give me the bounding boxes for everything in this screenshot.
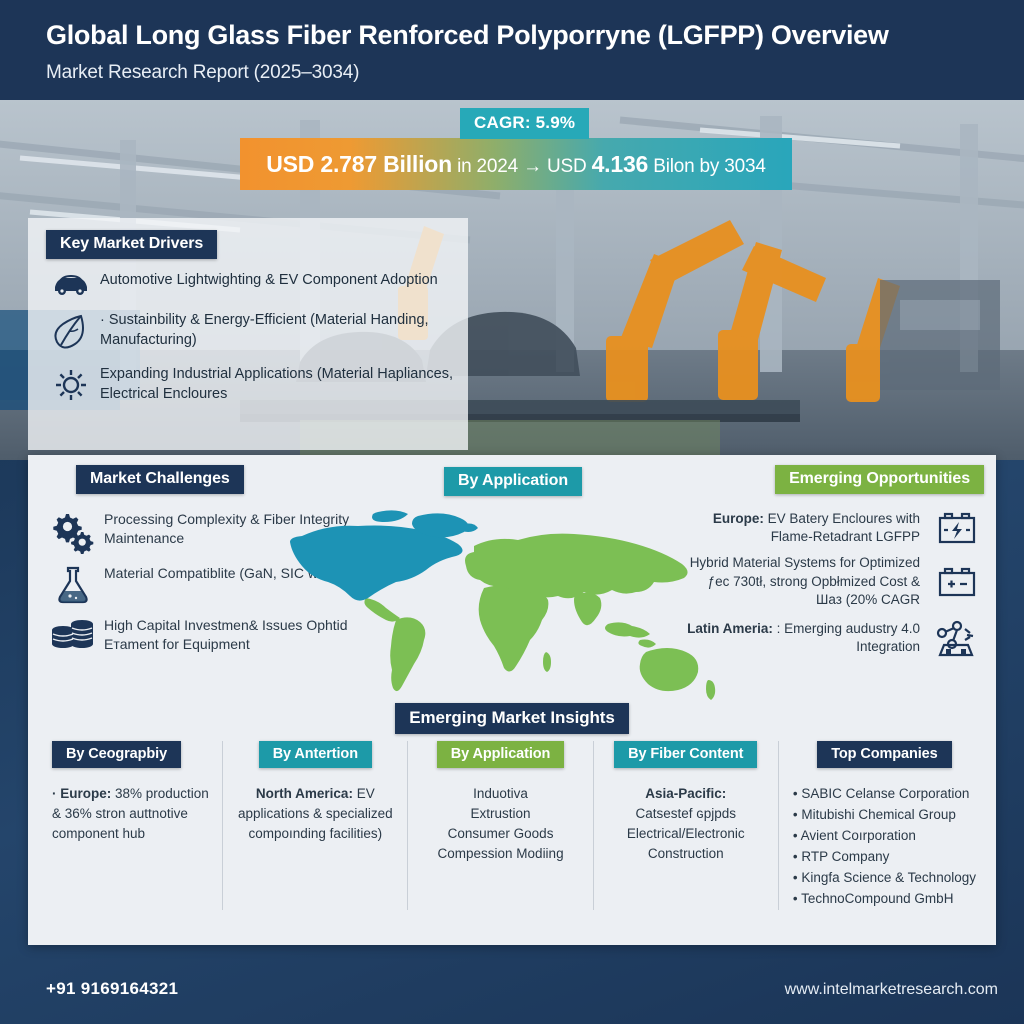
opportunity-item: Europe: EV Batery Encloures with Flame-R… [684,510,984,546]
opportunity-text: Latin Ameria: : Emerging audustry 4.0 In… [684,620,930,656]
driver-text: Expanding Industrial Applications (Mater… [100,364,460,404]
card-lead: North America: [256,786,353,801]
card-line: Compession Modiing [418,844,582,864]
battery-bolt-icon [930,510,984,546]
gear-icon [42,364,100,404]
flask-icon [42,564,104,606]
drivers-heading: Key Market Drivers [46,230,217,259]
card-chip-wrap: By Ceograpbiy [48,741,212,768]
opportunity-item: Latin Ameria: : Emerging audustry 4.0 In… [684,617,984,659]
world-map-panel: By Application [278,467,748,722]
card-chip-wrap: By Antertion [233,741,397,768]
card-line: Induotiva [418,784,582,804]
card-body: North America: EV applications & special… [233,784,397,844]
opportunity-body: Hybrid Material Systems for Optimized ƒе… [690,555,920,606]
opportunity-body: : Emerging audustry 4.0 Integration [773,621,920,654]
opportunity-lead: Europe: [713,511,764,526]
opportunities-heading: Emerging Opportunities [775,465,984,494]
value-prefix: USD [266,151,320,177]
cagr-badge: CAGR: 5.9% [460,108,589,139]
list-item: Avient Coırporation [793,826,976,846]
battery-icon [930,565,984,599]
card-chip-antertion: By Antertion [259,741,372,768]
poster-header: Global Long Glass Fiber Renforced Polypo… [0,0,1024,100]
list-item: TechnoCompound GmbH [793,889,976,909]
poster-footer: +91 9169164321 www.intelmarketresearch.c… [0,945,1024,1024]
card-chip-wrap: Top Companies [789,741,976,768]
card-chip-wrap: By Fiber Content [604,741,768,768]
contact-phone: +91 9169164321 [46,979,178,999]
driver-text: Automotive Lightwighting & EV Component … [100,270,438,290]
card-line: Catsestef ɢpjpds [604,804,768,824]
value-start: 2.787 [320,151,377,177]
list-item: SABIC Celanse Corporation [793,784,976,804]
opportunity-text: Europe: EV Batery Encloures with Flame-R… [684,510,930,546]
card-line: Extruѕtion [418,804,582,824]
drivers-list: Automotive Lightwighting & EV Component … [42,270,460,418]
list-item: RTP Company [793,847,976,867]
card-chip-application: By Application [437,741,565,768]
key-market-drivers-panel: Key Market Drivers Automotive Lightwight… [28,218,468,450]
card-body: Asia-Pacific: Catsestef ɢpjpds Electrica… [604,784,768,864]
market-value-bar: USD 2.787 Billion in 2024 → USD 4.136 Bi… [240,138,792,190]
map-heading-wrap: By Application [278,467,748,496]
card-body: · Europe: 38% production & 36% stron aut… [48,784,212,844]
opportunity-body: EV Batery Encloures with Flame-Retadrant… [764,511,920,544]
challenges-heading: Market Challenges [76,465,244,494]
card-lead: · Europe: [52,786,111,801]
card-chip-top-companies: Top Companies [817,741,951,768]
driver-item: Expanding Industrial Applications (Mater… [42,364,460,404]
car-icon [42,270,100,296]
insight-card-fiber-content: By Fiber Content Asia-Pacific: Catsestef… [594,741,779,910]
robot-arm-icon [930,617,984,659]
infographic-poster: Global Long Glass Fiber Renforced Polypo… [0,0,1024,1024]
insight-card-antertion: By Antertion North America: EV applicati… [223,741,408,910]
driver-item: · Sustainbility & Energy-Efficient (Mate… [42,310,460,350]
company-list: SABIC Celanse Corporation Mitubishi Chem… [793,784,976,909]
world-map [278,502,748,722]
drivers-heading-wrap: Key Market Drivers [46,230,217,259]
page-subtitle: Market Research Report (2025–3034) [46,62,359,84]
card-line: Electrical/Electronic [604,824,768,844]
gears-icon [42,510,104,554]
leaf-icon [42,310,100,350]
list-item: Kingfa Science & Technology [793,868,976,888]
opportunities-list: Europe: EV Batery Encloures with Flame-R… [684,510,984,659]
card-body: SABIC Celanse Corporation Mitubishi Chem… [789,784,976,909]
insights-board: Market Challenges [28,455,996,945]
card-chip-geography: By Ceograpbiy [52,741,181,768]
insights-cards: By Ceograpbiy · Europe: 38% production &… [38,741,986,910]
driver-text: · Sustainbility & Energy-Efficient (Mate… [100,310,460,350]
card-chip-fiber-content: By Fiber Content [614,741,757,768]
insight-card-geography: By Ceograpbiy · Europe: 38% production &… [38,741,223,910]
card-line: Construction [604,844,768,864]
world-map-svg [278,502,748,717]
opportunities-heading-wrap: Emerging Opportunities [684,465,984,494]
card-body: Induotiva Extruѕtion Consumer Goods Comp… [418,784,582,864]
emerging-opportunities-panel: Emerging Opportunities Europe: EV Batery… [684,465,984,667]
page-title: Global Long Glass Fiber Renforced Polypo… [46,20,889,51]
value-end-unit: Bilon by 3034 [648,156,766,177]
card-chip-wrap: By Application [418,741,582,768]
value-mid: in 2024 → USD [452,156,592,177]
insight-card-application: By Application Induotiva Extruѕtion Cons… [408,741,593,910]
insight-card-top-companies: Top Companies SABIC Celanse Corporation … [779,741,986,910]
value-end: 4.136 [592,151,649,177]
list-item: Mitubishi Chemical Group [793,805,976,825]
value-start-unit: Billion [377,151,452,177]
coins-icon [42,616,104,654]
opportunity-text: Hybrid Material Systems for Optimized ƒе… [684,554,930,609]
card-lead: Asia-Pacific: [645,786,726,801]
card-line: Consumer Goods [418,824,582,844]
opportunity-item: Hybrid Material Systems for Optimized ƒе… [684,554,984,609]
insights-heading-wrap: Emerging Market Insights [28,703,996,734]
driver-item: Automotive Lightwighting & EV Component … [42,270,460,296]
website-url: www.intelmarketresearch.com [785,981,998,999]
opportunity-lead: Latin Ameria: [687,621,773,636]
insights-heading: Emerging Market Insights [395,703,628,734]
map-heading: By Application [444,467,582,496]
